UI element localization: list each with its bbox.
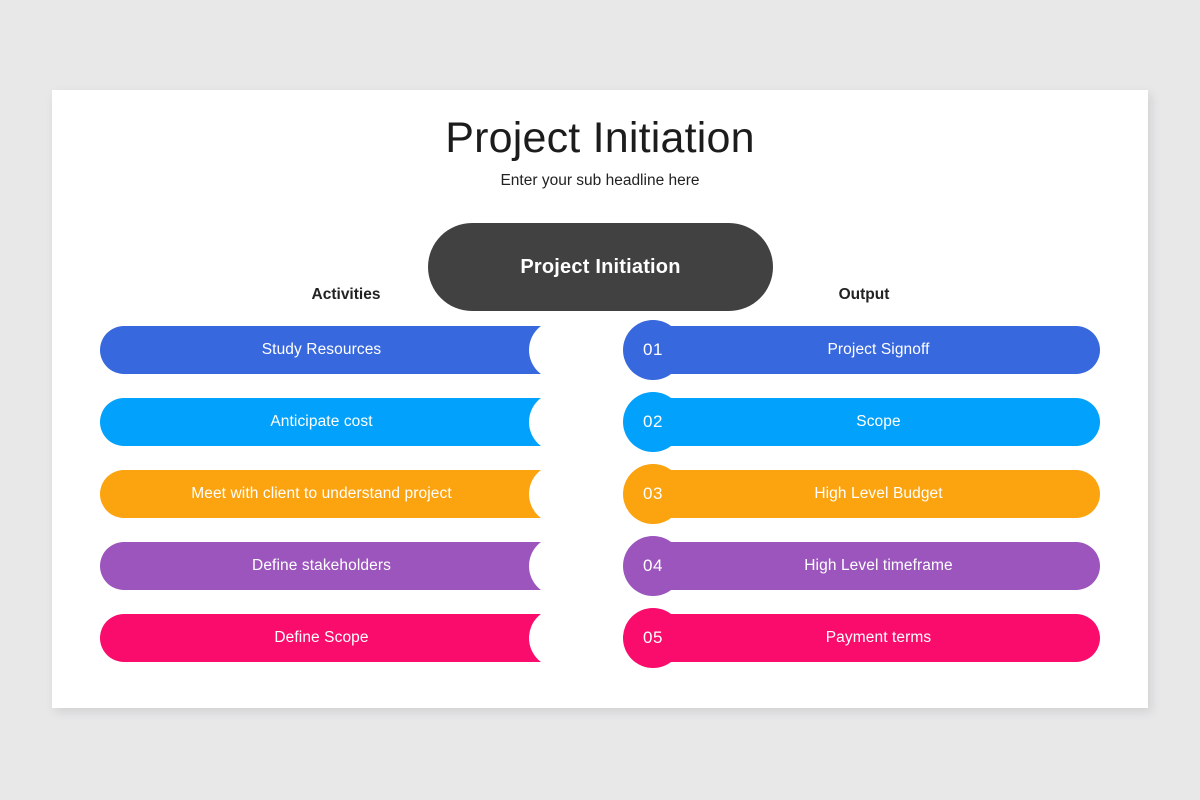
activity-label: Anticipate cost bbox=[270, 413, 372, 431]
output-bar[interactable]: High Level timeframe bbox=[643, 542, 1100, 590]
column-header-output: Output bbox=[754, 286, 974, 304]
output-bar[interactable]: Scope bbox=[643, 398, 1100, 446]
output-bar[interactable]: High Level Budget bbox=[643, 470, 1100, 518]
bar-notch bbox=[529, 464, 589, 524]
output-label: Payment terms bbox=[826, 629, 932, 647]
slide-card: Project Initiation Enter your sub headli… bbox=[52, 90, 1148, 708]
activity-bar[interactable]: Meet with client to understand project bbox=[100, 470, 557, 518]
output-label: High Level timeframe bbox=[804, 557, 952, 575]
output-bar[interactable]: Project Signoff bbox=[643, 326, 1100, 374]
output-bar[interactable]: Payment terms bbox=[643, 614, 1100, 662]
bar-notch bbox=[529, 608, 589, 668]
bar-notch bbox=[529, 392, 589, 452]
table-row: Meet with client to understand projectHi… bbox=[52, 470, 1148, 518]
table-row: Study ResourcesProject Signoff01 bbox=[52, 326, 1148, 374]
step-number-circle[interactable]: 05 bbox=[623, 608, 683, 668]
step-number-label: 01 bbox=[643, 340, 663, 360]
activity-bar[interactable]: Define Scope bbox=[100, 614, 557, 662]
column-header-activities: Activities bbox=[236, 286, 456, 304]
step-number-circle[interactable]: 02 bbox=[623, 392, 683, 452]
table-row: Define ScopePayment terms05 bbox=[52, 614, 1148, 662]
output-label: Scope bbox=[856, 413, 900, 431]
center-topic-pill[interactable]: Project Initiation bbox=[428, 223, 773, 311]
activity-bar[interactable]: Define stakeholders bbox=[100, 542, 557, 590]
table-row: Define stakeholdersHigh Level timeframe0… bbox=[52, 542, 1148, 590]
activity-label: Define Scope bbox=[274, 629, 368, 647]
activity-bar[interactable]: Anticipate cost bbox=[100, 398, 557, 446]
output-label: Project Signoff bbox=[827, 341, 929, 359]
output-label: High Level Budget bbox=[814, 485, 942, 503]
activity-label: Define stakeholders bbox=[252, 557, 391, 575]
step-number-label: 05 bbox=[643, 628, 663, 648]
bar-notch bbox=[529, 536, 589, 596]
step-number-circle[interactable]: 04 bbox=[623, 536, 683, 596]
activity-label: Meet with client to understand project bbox=[191, 485, 452, 503]
table-row: Anticipate costScope02 bbox=[52, 398, 1148, 446]
activity-bar[interactable]: Study Resources bbox=[100, 326, 557, 374]
step-number-label: 03 bbox=[643, 484, 663, 504]
step-number-circle[interactable]: 01 bbox=[623, 320, 683, 380]
process-rows: Study ResourcesProject Signoff01Anticipa… bbox=[52, 90, 1148, 708]
step-number-circle[interactable]: 03 bbox=[623, 464, 683, 524]
bar-notch bbox=[529, 320, 589, 380]
activity-label: Study Resources bbox=[262, 341, 382, 359]
center-topic-label: Project Initiation bbox=[520, 256, 680, 279]
step-number-label: 04 bbox=[643, 556, 663, 576]
step-number-label: 02 bbox=[643, 412, 663, 432]
